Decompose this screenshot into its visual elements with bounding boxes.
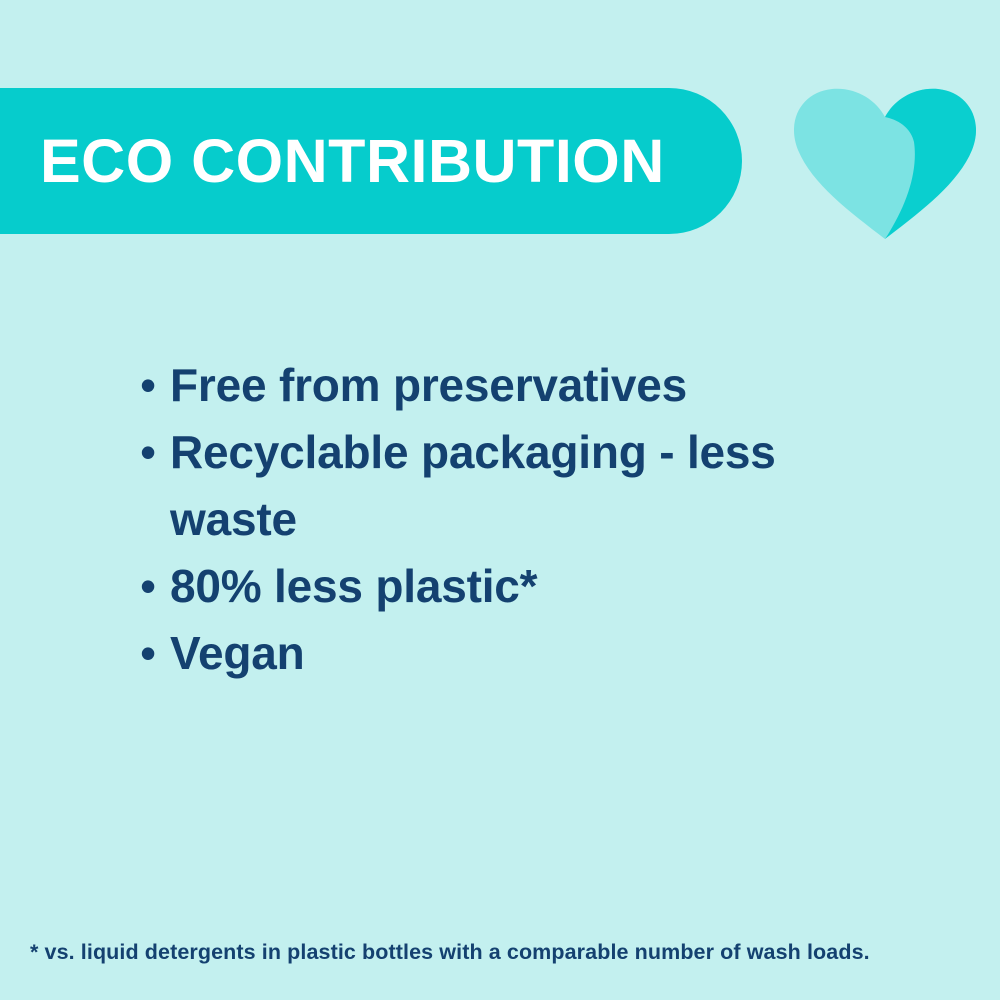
page-title: ECO CONTRIBUTION bbox=[40, 131, 665, 192]
list-item: • Free from preservatives bbox=[140, 352, 900, 419]
list-item-label: 80% less plastic* bbox=[170, 553, 900, 620]
bullet-point-icon: • bbox=[140, 352, 170, 419]
bullet-point-icon: • bbox=[140, 620, 170, 687]
list-item-label: Free from preservatives bbox=[170, 352, 900, 419]
list-item: • 80% less plastic* bbox=[140, 553, 900, 620]
footnote-text: * vs. liquid detergents in plastic bottl… bbox=[30, 938, 980, 966]
heart-icon bbox=[790, 84, 980, 244]
eco-contribution-panel: ECO CONTRIBUTION • Free from preservativ… bbox=[0, 0, 1000, 1000]
header-banner: ECO CONTRIBUTION bbox=[0, 88, 742, 234]
bullet-point-icon: • bbox=[140, 419, 170, 486]
bullet-point-icon: • bbox=[140, 553, 170, 620]
list-item-label: Recyclable packaging - less waste bbox=[170, 419, 850, 553]
list-item-label: Vegan bbox=[170, 620, 900, 687]
list-item: • Recyclable packaging - less waste bbox=[140, 419, 900, 553]
benefits-list: • Free from preservatives • Recyclable p… bbox=[140, 352, 900, 687]
list-item: • Vegan bbox=[140, 620, 900, 687]
